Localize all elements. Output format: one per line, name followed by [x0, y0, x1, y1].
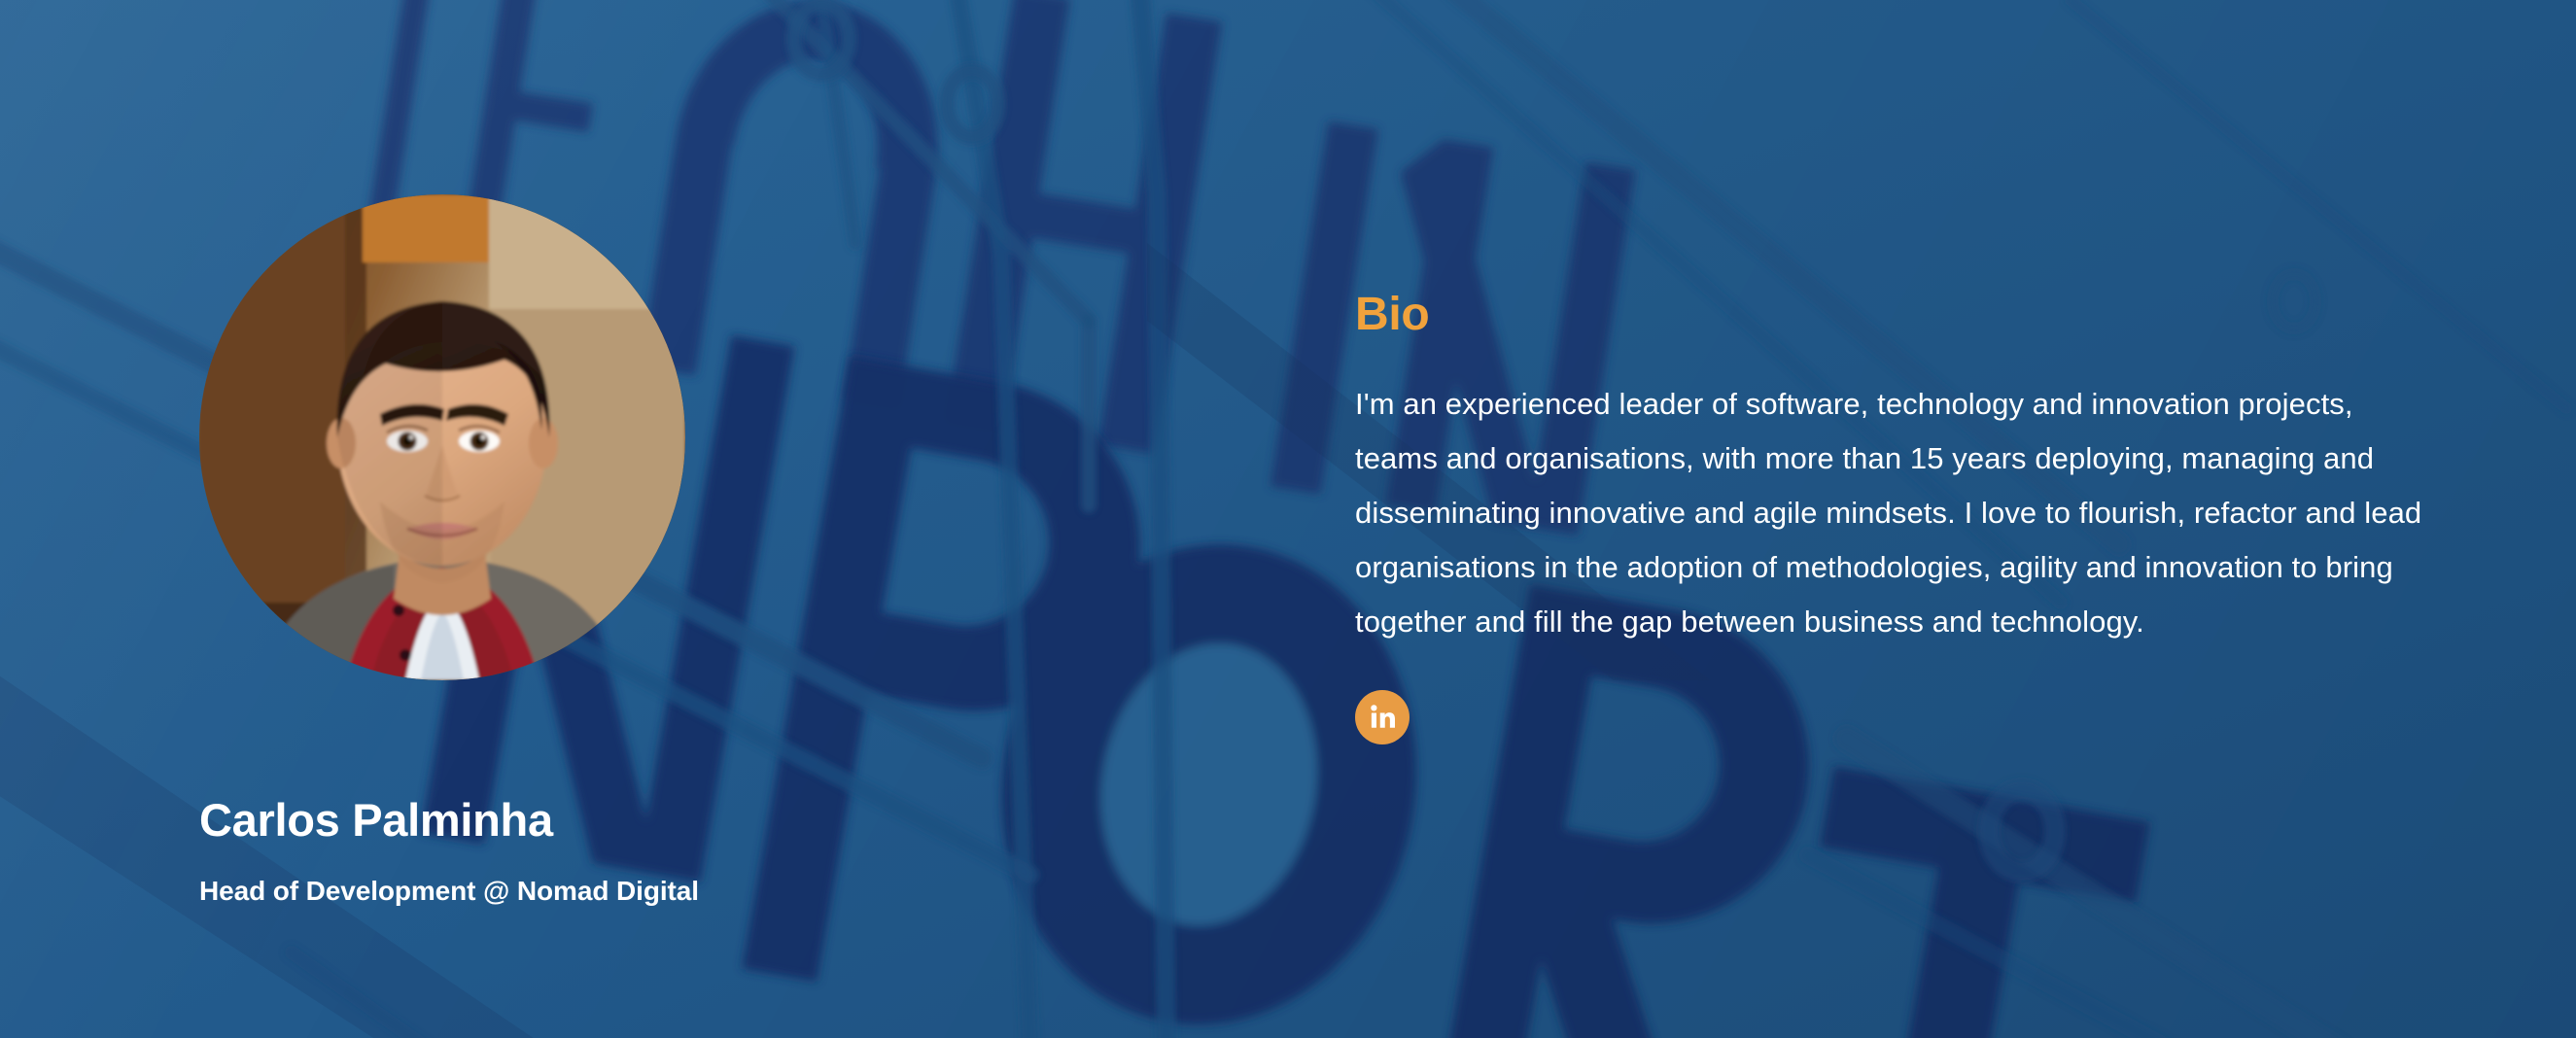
linkedin-icon: [1368, 703, 1397, 732]
social-links: [1355, 690, 2444, 744]
linkedin-link[interactable]: [1355, 690, 1410, 744]
speaker-identity-column: Carlos Palminha Head of Development @ No…: [199, 194, 1171, 907]
speaker-profile-card: Carlos Palminha Head of Development @ No…: [0, 0, 2576, 1038]
bio-text: I'm an experienced leader of software, t…: [1355, 377, 2424, 649]
avatar-photo: [199, 194, 685, 680]
speaker-role: Head of Development @ Nomad Digital: [199, 875, 1171, 908]
bio-heading: Bio: [1355, 292, 2444, 338]
avatar: [199, 194, 685, 680]
speaker-name: Carlos Palminha: [199, 795, 1171, 846]
bio-column: Bio I'm an experienced leader of softwar…: [1355, 292, 2444, 744]
